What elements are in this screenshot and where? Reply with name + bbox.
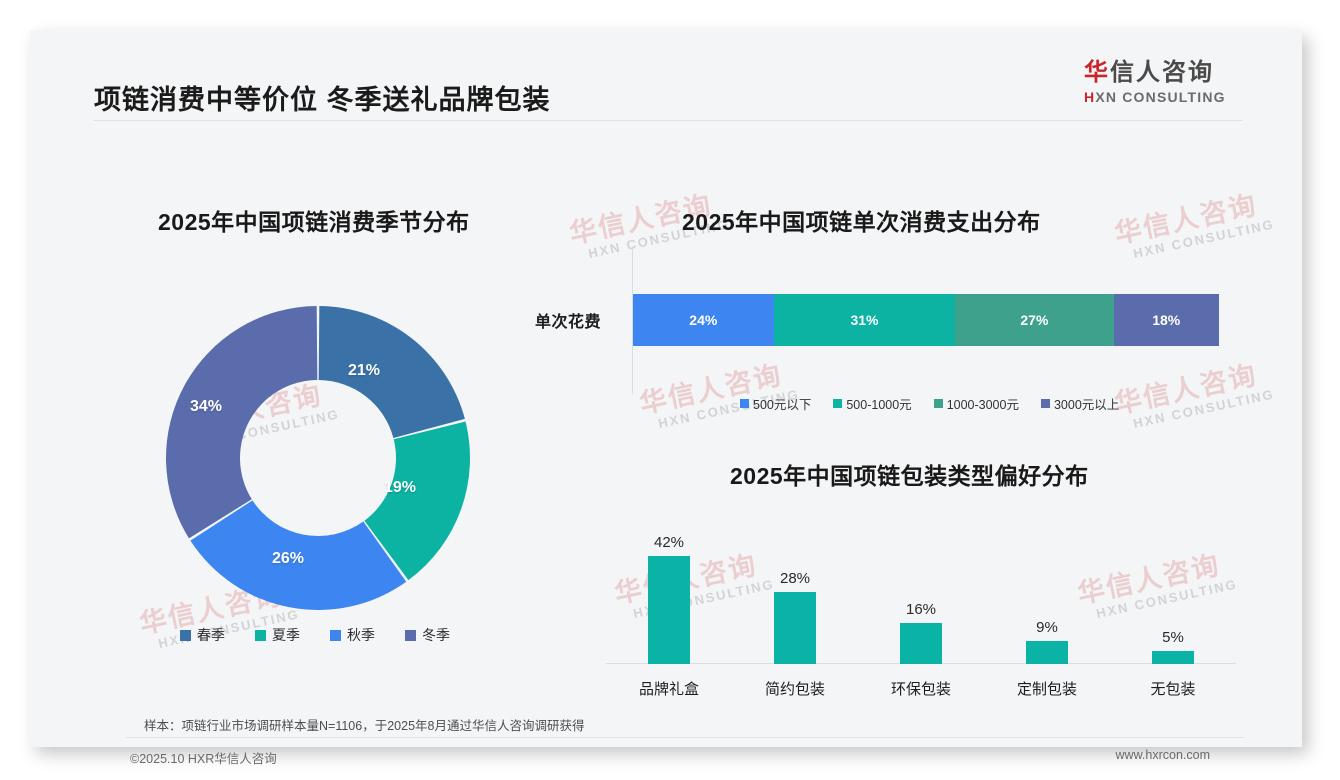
- column-inner: 16%: [858, 522, 984, 664]
- legend-swatch-icon: [934, 399, 943, 408]
- footer-website[interactable]: www.hxrcon.com: [1116, 748, 1210, 762]
- column-inner: 28%: [732, 522, 858, 664]
- column-bar[interactable]: [900, 623, 942, 664]
- column-category-label: 无包装: [1110, 678, 1236, 699]
- column-bar[interactable]: [648, 556, 690, 664]
- legend-item[interactable]: 秋季: [330, 625, 375, 645]
- legend-swatch-icon: [255, 630, 266, 641]
- brand-logo-cn-rest: 信人咨询: [1110, 59, 1214, 86]
- legend-item[interactable]: 500元以下: [740, 394, 811, 413]
- legend-swatch-icon: [833, 399, 842, 408]
- column-bar[interactable]: [774, 592, 816, 664]
- donut-svg: [162, 302, 474, 614]
- column-category-label: 环保包装: [858, 678, 984, 699]
- page-title: 项链消费中等价位 冬季送礼品牌包装: [94, 78, 551, 117]
- column-chart: 42% 品牌礼盒 28% 简约包装 16% 环保包装 9% 定制包装: [606, 522, 1236, 712]
- legend-label: 500元以下: [753, 394, 811, 413]
- column-group[interactable]: 5% 无包装: [1110, 522, 1236, 664]
- column-group[interactable]: 16% 环保包装: [858, 522, 984, 664]
- footer-divider: [126, 737, 1244, 738]
- column-value-label: 5%: [1162, 629, 1184, 646]
- column-bar[interactable]: [1152, 651, 1194, 664]
- column-group[interactable]: 42% 品牌礼盒: [606, 522, 732, 664]
- legend-item[interactable]: 春季: [180, 625, 225, 645]
- donut-slices: [166, 306, 470, 610]
- legend-swatch-icon: [405, 630, 416, 641]
- column-value-label: 28%: [780, 570, 810, 587]
- column-category-label: 简约包装: [732, 678, 858, 699]
- brand-logo-cn: 华信人咨询: [1084, 60, 1244, 86]
- stacked-bar-category-label: 单次花费: [535, 308, 601, 332]
- donut-slice-label: 21%: [348, 362, 380, 380]
- legend-label: 夏季: [272, 625, 300, 645]
- slide-header: 项链消费中等价位 冬季送礼品牌包装 华信人咨询 HXN CONSULTING: [30, 30, 1302, 122]
- brand-logo-en-accent: H: [1084, 89, 1095, 105]
- watermark: 华信人咨询 HXN CONSULTING: [1112, 189, 1275, 263]
- donut-slice-label: 34%: [190, 398, 222, 416]
- legend-label: 秋季: [347, 625, 375, 645]
- header-divider: [94, 120, 1242, 121]
- legend-label: 冬季: [422, 625, 450, 645]
- legend-label: 500-1000元: [846, 394, 911, 413]
- stacked-bar-segment[interactable]: 31%: [774, 294, 956, 346]
- donut-slice[interactable]: [166, 306, 317, 538]
- legend-swatch-icon: [330, 630, 341, 641]
- column-inner: 42%: [606, 522, 732, 664]
- column-value-label: 42%: [654, 534, 684, 551]
- column-category-label: 品牌礼盒: [606, 678, 732, 699]
- stacked-bar-chart-title: 2025年中国项链单次消费支出分布: [682, 203, 1041, 237]
- legend-item[interactable]: 500-1000元: [833, 394, 911, 413]
- donut-slice-label: 19%: [384, 479, 416, 497]
- stacked-bar-segment[interactable]: 24%: [633, 294, 774, 346]
- brand-logo-en: HXN CONSULTING: [1084, 89, 1244, 105]
- brand-logo: 华信人咨询 HXN CONSULTING: [1084, 60, 1244, 105]
- legend-item[interactable]: 3000元以上: [1041, 394, 1119, 413]
- donut-slice-label: 26%: [272, 550, 304, 568]
- footer-copyright: ©2025.10 HXR华信人咨询: [130, 748, 277, 767]
- column-group[interactable]: 9% 定制包装: [984, 522, 1110, 664]
- watermark-cn: 华信人咨询: [1112, 189, 1272, 248]
- legend-swatch-icon: [180, 630, 191, 641]
- legend-swatch-icon: [740, 399, 749, 408]
- legend-item[interactable]: 冬季: [405, 625, 450, 645]
- watermark-en: HXN CONSULTING: [1132, 217, 1276, 260]
- brand-logo-en-rest: XN CONSULTING: [1095, 89, 1225, 105]
- column-category-label: 定制包装: [984, 678, 1110, 699]
- legend-label: 春季: [197, 625, 225, 645]
- donut-legend: 春季 夏季 秋季 冬季: [180, 625, 450, 645]
- legend-label: 1000-3000元: [947, 394, 1019, 413]
- brand-logo-cn-accent: 华: [1084, 59, 1110, 86]
- donut-chart: 21% 19% 26% 34%: [162, 302, 474, 614]
- column-group[interactable]: 28% 简约包装: [732, 522, 858, 664]
- column-inner: 9%: [984, 522, 1110, 664]
- donut-slice[interactable]: [319, 306, 465, 438]
- legend-swatch-icon: [1041, 399, 1050, 408]
- column-value-label: 9%: [1036, 619, 1058, 636]
- sample-note: 样本：项链行业市场调研样本量N=1106，于2025年8月通过华信人咨询调研获得: [144, 715, 584, 734]
- column-bar[interactable]: [1026, 641, 1068, 664]
- donut-chart-title: 2025年中国项链消费季节分布: [158, 203, 470, 237]
- slide-canvas: 华信人咨询 HXN CONSULTING 华信人咨询 HXN CONSULTIN…: [30, 30, 1302, 747]
- legend-item[interactable]: 1000-3000元: [934, 394, 1019, 413]
- watermark-en: HXN CONSULTING: [1132, 387, 1276, 430]
- watermark-cn: 华信人咨询: [1112, 359, 1272, 418]
- legend-item[interactable]: 夏季: [255, 625, 300, 645]
- column-chart-title: 2025年中国项链包装类型偏好分布: [730, 457, 1089, 491]
- column-inner: 5%: [1110, 522, 1236, 664]
- stacked-bar-legend: 500元以下 500-1000元 1000-3000元 3000元以上: [740, 394, 1119, 413]
- watermark: 华信人咨询 HXN CONSULTING: [1112, 359, 1275, 433]
- legend-label: 3000元以上: [1054, 394, 1119, 413]
- stacked-bar-segment[interactable]: 18%: [1114, 294, 1219, 346]
- column-value-label: 16%: [906, 601, 936, 618]
- stacked-bar: 24% 31% 27% 18%: [633, 294, 1219, 346]
- stacked-bar-segment[interactable]: 27%: [955, 294, 1113, 346]
